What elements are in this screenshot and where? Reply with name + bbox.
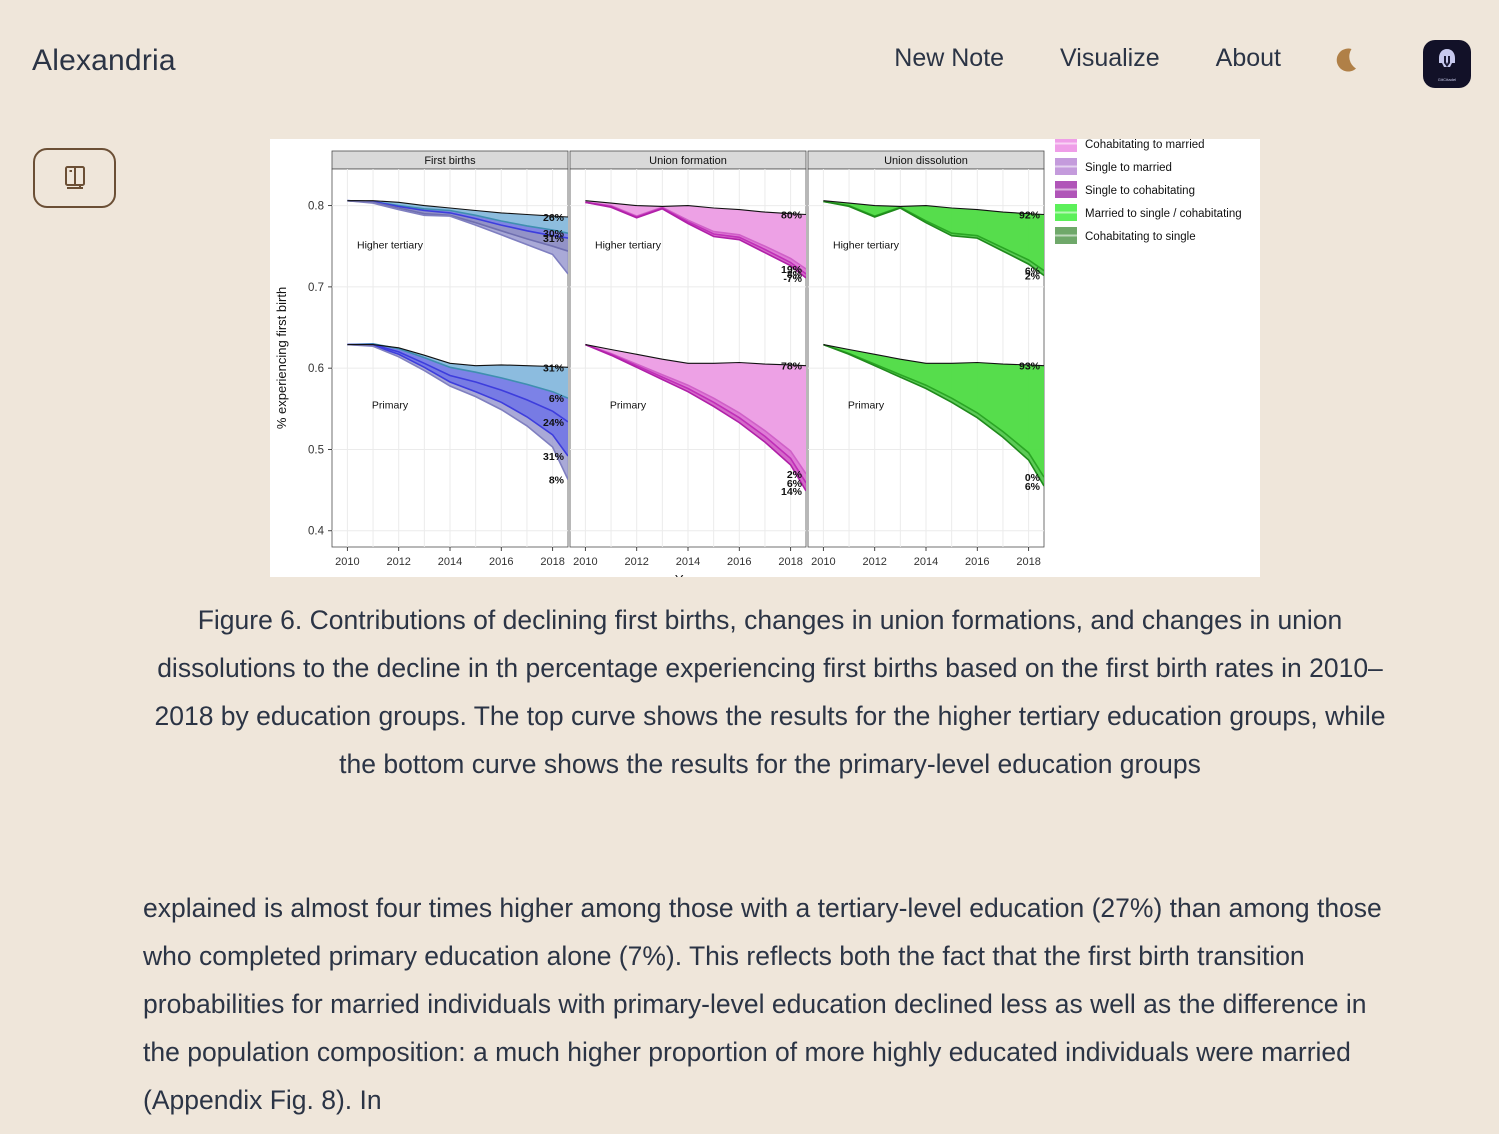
svg-text:6%: 6% [549, 393, 565, 405]
svg-text:6%: 6% [1025, 481, 1041, 493]
svg-text:2016: 2016 [965, 556, 989, 568]
figure-image-container: First birthsHigher tertiary26%30%31%Prim… [270, 139, 1260, 577]
top-navigation-bar: Alexandria New Note Visualize About GitC… [0, 0, 1499, 128]
svg-text:Union dissolution: Union dissolution [884, 155, 968, 167]
body-paragraph: explained is almost four times higher am… [143, 884, 1393, 1124]
svg-text:Year: Year [675, 572, 702, 577]
gitcitadel-app-badge[interactable]: GitCitadel [1423, 40, 1471, 88]
svg-text:Single to cohabitating: Single to cohabitating [1085, 185, 1195, 197]
nav-visualize[interactable]: Visualize [1060, 44, 1160, 73]
svg-text:31%: 31% [543, 233, 565, 245]
svg-text:Single to married: Single to married [1085, 162, 1172, 174]
app-brand-title: Alexandria [32, 44, 176, 78]
svg-text:26%: 26% [543, 212, 565, 224]
library-sidebar-button[interactable] [33, 148, 116, 208]
svg-text:2012: 2012 [624, 556, 648, 568]
svg-text:0.7: 0.7 [308, 282, 324, 294]
svg-text:2%: 2% [1025, 270, 1041, 282]
svg-text:2016: 2016 [727, 556, 751, 568]
svg-text:Higher tertiary: Higher tertiary [357, 240, 424, 252]
svg-text:First births: First births [424, 155, 476, 167]
svg-text:93%: 93% [1019, 361, 1041, 373]
figure-caption: Figure 6. Contributions of declining fir… [140, 596, 1400, 788]
svg-text:Higher tertiary: Higher tertiary [833, 240, 900, 252]
svg-text:Cohabitating to married: Cohabitating to married [1085, 139, 1205, 151]
svg-text:Primary: Primary [372, 400, 409, 412]
svg-text:0.8: 0.8 [308, 201, 324, 213]
svg-text:2018: 2018 [1016, 556, 1040, 568]
nav-about[interactable]: About [1216, 44, 1281, 73]
theme-toggle-button[interactable] [1325, 40, 1371, 86]
svg-text:-7%: -7% [783, 273, 802, 285]
svg-text:2010: 2010 [573, 556, 597, 568]
svg-text:92%: 92% [1019, 210, 1041, 222]
svg-text:2014: 2014 [438, 556, 462, 568]
svg-text:31%: 31% [543, 451, 565, 463]
svg-text:Primary: Primary [610, 400, 647, 412]
nav-new-note[interactable]: New Note [894, 44, 1004, 73]
book-icon [60, 162, 90, 195]
svg-text:% experiencing first birth: % experiencing first birth [274, 287, 289, 429]
app-badge-label: GitCitadel [1438, 78, 1457, 82]
svg-text:2010: 2010 [811, 556, 835, 568]
svg-text:0.5: 0.5 [308, 444, 324, 456]
svg-text:8%: 8% [549, 475, 565, 487]
svg-text:Primary: Primary [848, 400, 885, 412]
svg-text:0.6: 0.6 [308, 363, 324, 375]
main-nav: New Note Visualize About [894, 44, 1281, 73]
svg-text:24%: 24% [543, 417, 565, 429]
svg-text:80%: 80% [781, 210, 803, 222]
svg-text:Union formation: Union formation [649, 155, 727, 167]
svg-text:31%: 31% [543, 362, 565, 374]
svg-text:0.4: 0.4 [308, 526, 325, 538]
svg-text:2018: 2018 [778, 556, 802, 568]
helmet-icon [1434, 46, 1460, 77]
svg-text:2012: 2012 [862, 556, 886, 568]
svg-text:2010: 2010 [335, 556, 359, 568]
svg-text:78%: 78% [781, 361, 803, 373]
svg-text:2014: 2014 [676, 556, 700, 568]
moon-icon [1330, 44, 1366, 83]
svg-text:Higher tertiary: Higher tertiary [595, 240, 662, 252]
svg-text:2012: 2012 [386, 556, 410, 568]
svg-text:Married to single / cohabitati: Married to single / cohabitating [1085, 208, 1242, 220]
svg-text:2018: 2018 [540, 556, 564, 568]
svg-text:2014: 2014 [914, 556, 938, 568]
first-birth-decomposition-chart: First birthsHigher tertiary26%30%31%Prim… [270, 139, 1260, 577]
svg-text:Cohabitating to single: Cohabitating to single [1085, 231, 1196, 243]
svg-text:14%: 14% [781, 486, 803, 498]
svg-text:2016: 2016 [489, 556, 513, 568]
